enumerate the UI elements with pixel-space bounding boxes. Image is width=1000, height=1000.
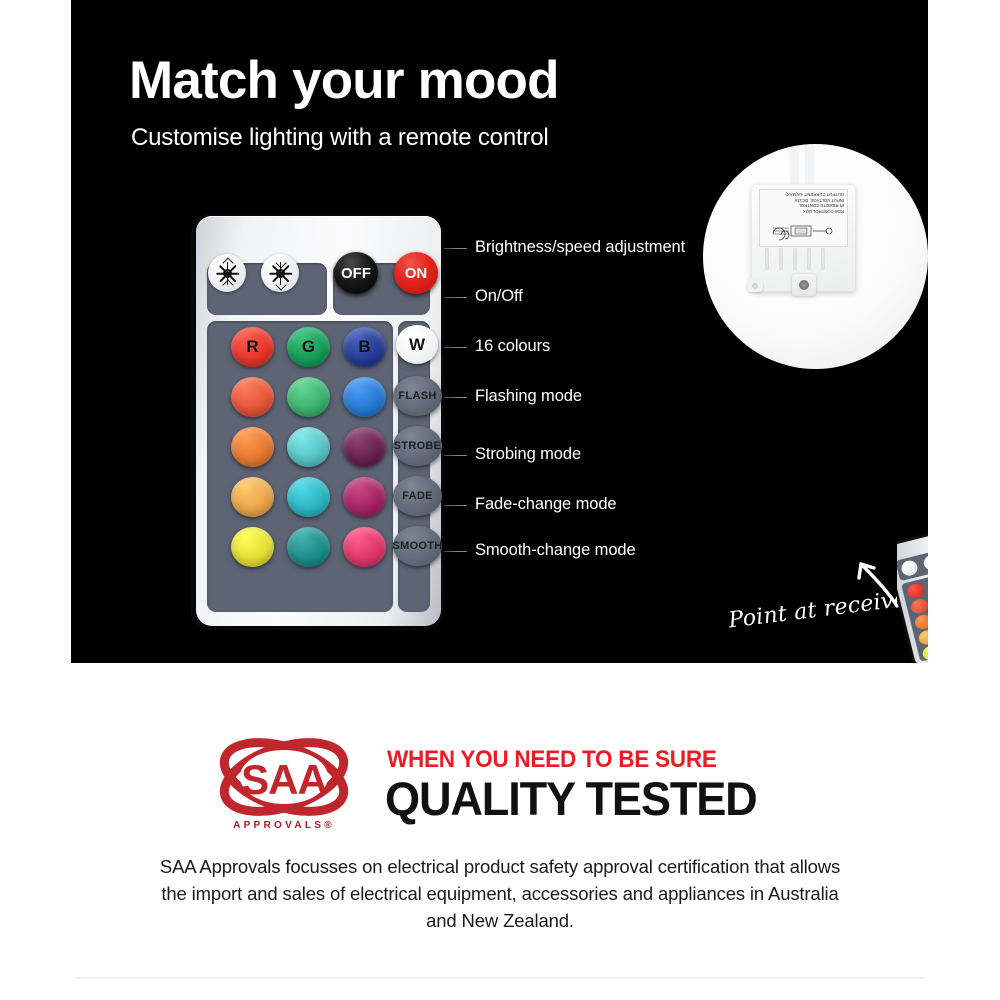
saa-section: [0, 663, 1000, 1000]
colour-button-r3c3[interactable]: [343, 427, 386, 467]
svg-text:SAA: SAA: [241, 756, 327, 803]
colour-button-r2c1[interactable]: [231, 377, 274, 417]
headline-large: QUALITY TESTED: [385, 771, 757, 826]
colour-button-r5c3[interactable]: [343, 527, 386, 567]
vent-slot: [821, 248, 825, 270]
mode-button-smooth[interactable]: SMOOTH: [393, 526, 442, 566]
power-on-button[interactable]: ON: [394, 252, 438, 294]
callout-onoff: On/Off: [475, 287, 523, 306]
brightness-down-button[interactable]: [261, 254, 299, 292]
mode-button-strobe[interactable]: STROBE: [393, 426, 442, 466]
sun-up-icon: [217, 263, 238, 284]
controller-spec-label: RGB CONTROL BOX IR REMOTE CONTROL INPUT …: [759, 189, 848, 247]
vent-slot: [765, 248, 769, 270]
hand-holding-remote: [897, 512, 928, 663]
colour-button-g[interactable]: G: [287, 327, 330, 367]
colour-button-r4c3[interactable]: [343, 477, 386, 517]
point-at-receiver-caption: Point at receiver: [727, 586, 919, 634]
saa-swoosh-icon: SAA: [216, 734, 352, 820]
colour-button-label: G: [302, 337, 315, 357]
colour-button-r4c2[interactable]: [287, 477, 330, 517]
hero-panel: Match your mood Customise lighting with …: [71, 0, 928, 663]
vent-slot: [793, 248, 797, 270]
spec-line: RGB CONTROL BOX: [763, 208, 844, 213]
colour-button-r[interactable]: R: [231, 327, 274, 367]
callout-smooth: Smooth-change mode: [475, 541, 636, 560]
mode-button-flash[interactable]: FLASH: [393, 376, 442, 416]
page-title: Match your mood: [129, 50, 559, 111]
power-socket: [792, 274, 816, 296]
mode-button-label: FLASH: [398, 390, 436, 402]
spec-line: OUTPUT CURRENT: 6A(MAX): [763, 192, 844, 197]
colour-button-r2c2[interactable]: [287, 377, 330, 417]
wiring-diagram-icon: [767, 220, 837, 242]
colour-button-label: B: [358, 337, 370, 357]
colour-button-label: R: [246, 337, 258, 357]
brightness-up-button[interactable]: [208, 254, 246, 292]
colour-button-b[interactable]: B: [343, 327, 386, 367]
mini-remote: [897, 521, 928, 663]
vent-slot: [779, 248, 783, 270]
power-off-label: OFF: [341, 265, 371, 282]
saa-logo: SAA APPROVALS®: [216, 734, 352, 840]
callout-colours: 16 colours: [475, 337, 550, 356]
mode-button-fade[interactable]: FADE: [393, 476, 442, 516]
colour-button-r3c1[interactable]: [231, 427, 274, 467]
spec-line: IR REMOTE CONTROL: [763, 203, 844, 208]
colour-button-r2c3[interactable]: [343, 377, 386, 417]
sun-down-icon: [270, 263, 291, 284]
colour-button-r5c2[interactable]: [287, 527, 330, 567]
saa-approvals-label: APPROVALS®: [216, 820, 352, 831]
callout-flash: Flashing mode: [475, 387, 582, 406]
headline-small: WHEN YOU NEED TO BE SURE: [387, 746, 717, 774]
power-off-button[interactable]: OFF: [334, 252, 378, 294]
colour-button-r5c1[interactable]: [231, 527, 274, 567]
mini-remote-body: [897, 522, 928, 663]
white-button[interactable]: W: [396, 325, 438, 364]
controller-inset-circle: RGB CONTROL BOX IR REMOTE CONTROL INPUT …: [703, 144, 928, 369]
white-label: W: [409, 335, 425, 355]
bottom-divider: [75, 977, 925, 979]
mounting-tab: [747, 279, 763, 292]
page-subtitle: Customise lighting with a remote control: [131, 124, 549, 152]
power-on-label: ON: [405, 265, 428, 282]
colour-button-r4c1[interactable]: [231, 477, 274, 517]
mode-button-label: FADE: [402, 490, 433, 502]
vent-slot: [807, 248, 811, 270]
spec-line: INPUT VOLTAGE: DC12V: [763, 197, 844, 202]
callout-brightness: Brightness/speed adjustment: [475, 238, 685, 257]
rgb-control-box: RGB CONTROL BOX IR REMOTE CONTROL INPUT …: [751, 184, 856, 292]
saa-paragraph: SAA Approvals focusses on electrical pro…: [150, 853, 850, 934]
callout-fade: Fade-change mode: [475, 495, 617, 514]
mode-button-label: SMOOTH: [392, 540, 442, 552]
callout-strobe: Strobing mode: [475, 445, 581, 464]
colour-button-r3c2[interactable]: [287, 427, 330, 467]
mode-button-label: STROBE: [394, 440, 442, 452]
